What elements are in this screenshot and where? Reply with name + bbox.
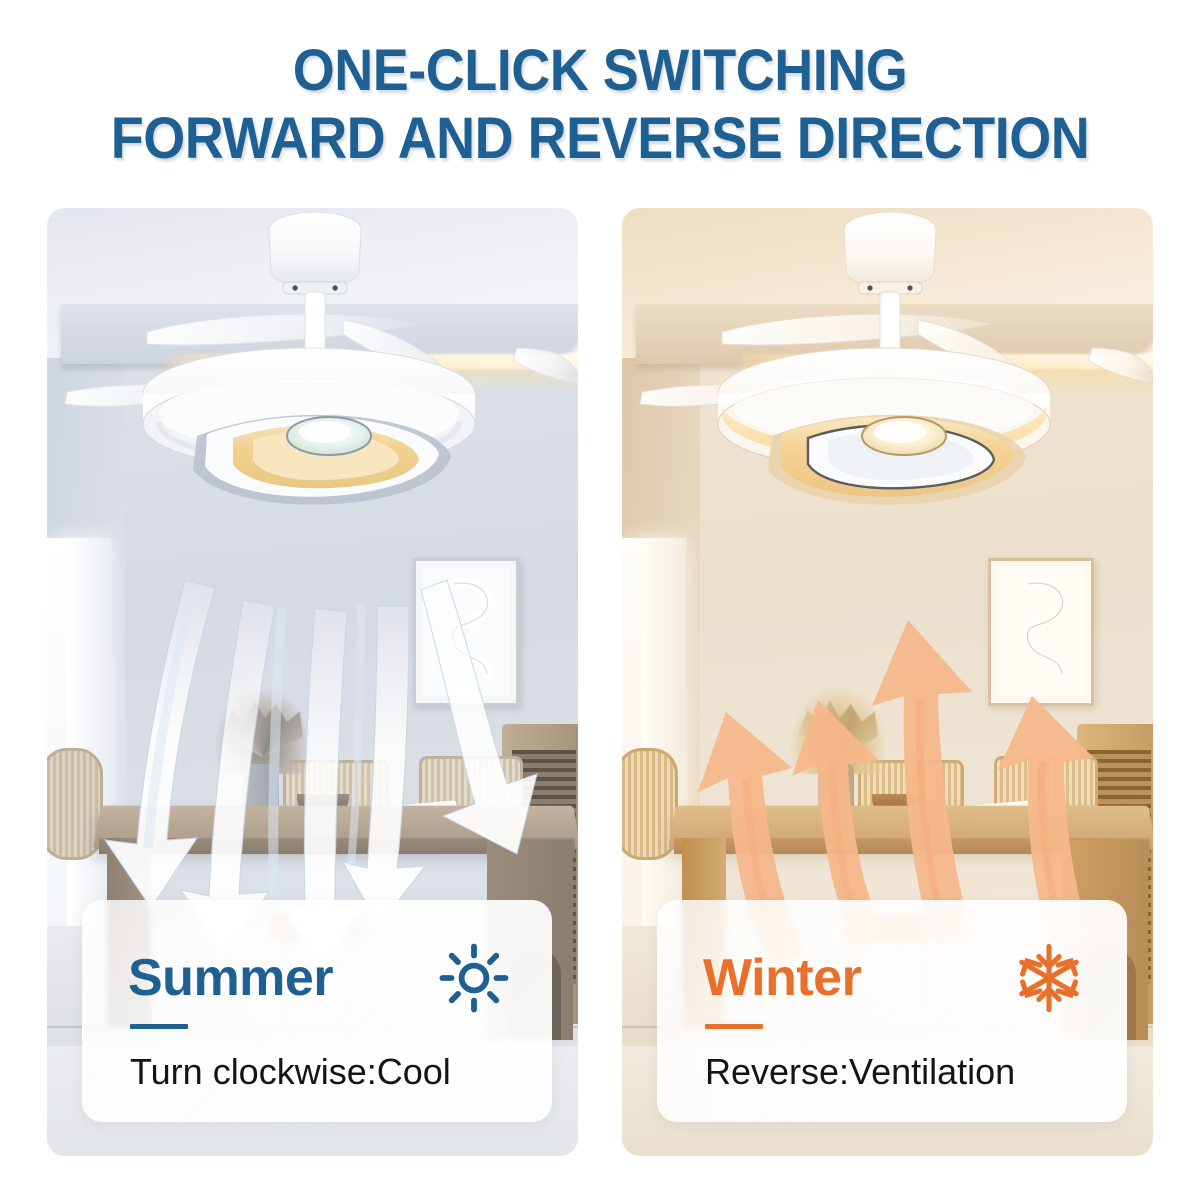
card-summer-header: Summer xyxy=(128,942,516,1014)
scene-winter: Winter xyxy=(622,208,1153,1156)
fan-light-housing xyxy=(143,348,475,505)
ceiling-fan-winter xyxy=(622,208,1153,568)
scene-summer: Summer xyxy=(47,208,578,1156)
wall-art-line-icon xyxy=(998,568,1090,702)
card-summer-subtitle: Turn clockwise:Cool xyxy=(130,1048,451,1096)
card-winter-rule xyxy=(705,1024,763,1029)
card-summer-title: Summer xyxy=(128,950,333,1006)
card-winter[interactable]: Winter xyxy=(657,900,1127,1122)
panel-winter[interactable]: Winter xyxy=(622,208,1153,1156)
sun-icon xyxy=(438,942,510,1014)
snowflake-icon xyxy=(1013,942,1085,1014)
dried-pampas-plant xyxy=(790,688,886,774)
dried-pampas-plant xyxy=(215,688,311,774)
fan-light-housing xyxy=(718,348,1050,505)
card-summer-rule xyxy=(130,1024,188,1029)
panel-summer[interactable]: Summer xyxy=(47,208,578,1156)
page-title-line-2: FORWARD AND REVERSE DIRECTION xyxy=(42,110,1158,168)
card-winter-subtitle: Reverse:Ventilation xyxy=(705,1048,1015,1096)
page-root: ONE-CLICK SWITCHING FORWARD AND REVERSE … xyxy=(0,0,1200,1200)
page-title-line-1: ONE-CLICK SWITCHING xyxy=(42,42,1158,100)
card-winter-header: Winter xyxy=(703,942,1091,1014)
card-summer[interactable]: Summer xyxy=(82,900,552,1122)
ceiling-fan-summer xyxy=(47,208,578,568)
wall-art-线条-icon xyxy=(423,568,515,702)
page-title: ONE-CLICK SWITCHING FORWARD AND REVERSE … xyxy=(42,42,1158,168)
card-winter-title: Winter xyxy=(703,950,861,1006)
